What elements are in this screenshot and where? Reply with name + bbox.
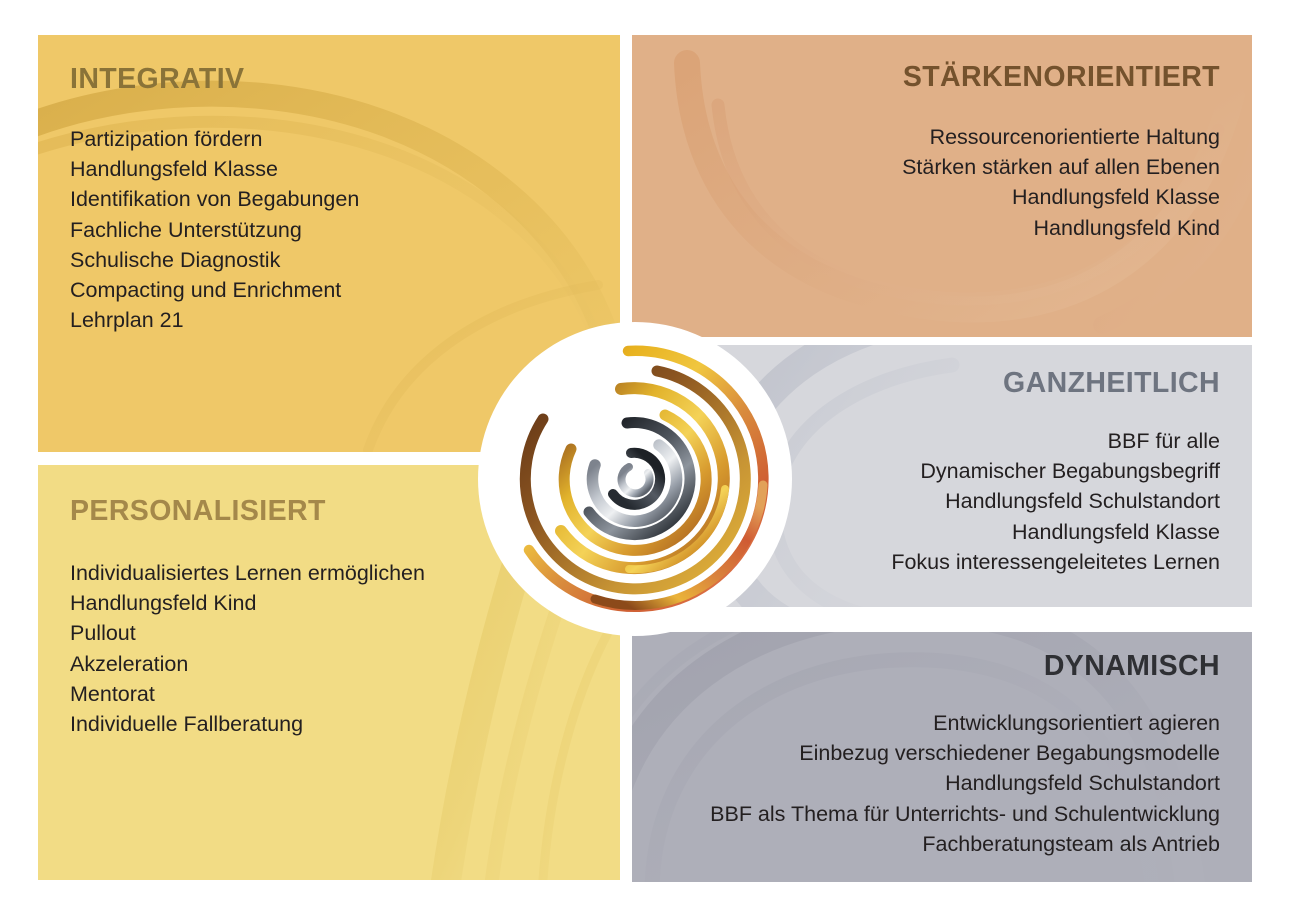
panel-staerkenorientiert: STÄRKENORIENTIERT Ressourcenorientierte … bbox=[632, 35, 1252, 337]
panel-line: Fachliche Unterstützung bbox=[70, 215, 620, 245]
panel-line: Handlungsfeld Klasse bbox=[632, 182, 1220, 212]
panel-line: Partizipation fördern bbox=[70, 124, 620, 154]
panel-line: Handlungsfeld Schulstandort bbox=[632, 768, 1220, 798]
panel-line: Einbezug verschiedener Begabungsmodelle bbox=[632, 738, 1220, 768]
spiral-logo bbox=[478, 322, 792, 636]
panel-line: Compacting und Enrichment bbox=[70, 275, 620, 305]
panel-line: Schulische Diagnostik bbox=[70, 245, 620, 275]
panel-lines-integrativ: Partizipation fördernHandlungsfeld Klass… bbox=[70, 124, 620, 335]
panel-line: Handlungsfeld Klasse bbox=[70, 154, 620, 184]
panel-title-integrativ: INTEGRATIV bbox=[70, 65, 620, 95]
panel-line: Ressourcenorientierte Haltung bbox=[632, 122, 1220, 152]
panel-line: Stärken stärken auf allen Ebenen bbox=[632, 152, 1220, 182]
panel-line: Fachberatungsteam als Antrieb bbox=[632, 829, 1220, 859]
infographic-canvas: INTEGRATIV Partizipation fördernHandlung… bbox=[0, 0, 1296, 916]
panel-lines-dynamisch: Entwicklungsorientiert agierenEinbezug v… bbox=[632, 708, 1220, 859]
panel-title-staerkenorientiert: STÄRKENORIENTIERT bbox=[632, 63, 1220, 93]
panel-line: BBF als Thema für Unterrichts- und Schul… bbox=[632, 799, 1220, 829]
panel-dynamisch: DYNAMISCH Entwicklungsorientiert agieren… bbox=[632, 632, 1252, 882]
panel-title-dynamisch: DYNAMISCH bbox=[632, 652, 1220, 682]
panel-line: Entwicklungsorientiert agieren bbox=[632, 708, 1220, 738]
panel-line: Akzeleration bbox=[70, 649, 620, 679]
panel-line: Handlungsfeld Kind bbox=[632, 213, 1220, 243]
panel-lines-staerkenorientiert: Ressourcenorientierte HaltungStärken stä… bbox=[632, 122, 1220, 243]
panel-line: Identifikation von Begabungen bbox=[70, 184, 620, 214]
panel-line: Mentorat bbox=[70, 679, 620, 709]
panel-line: Individuelle Fallberatung bbox=[70, 709, 620, 739]
